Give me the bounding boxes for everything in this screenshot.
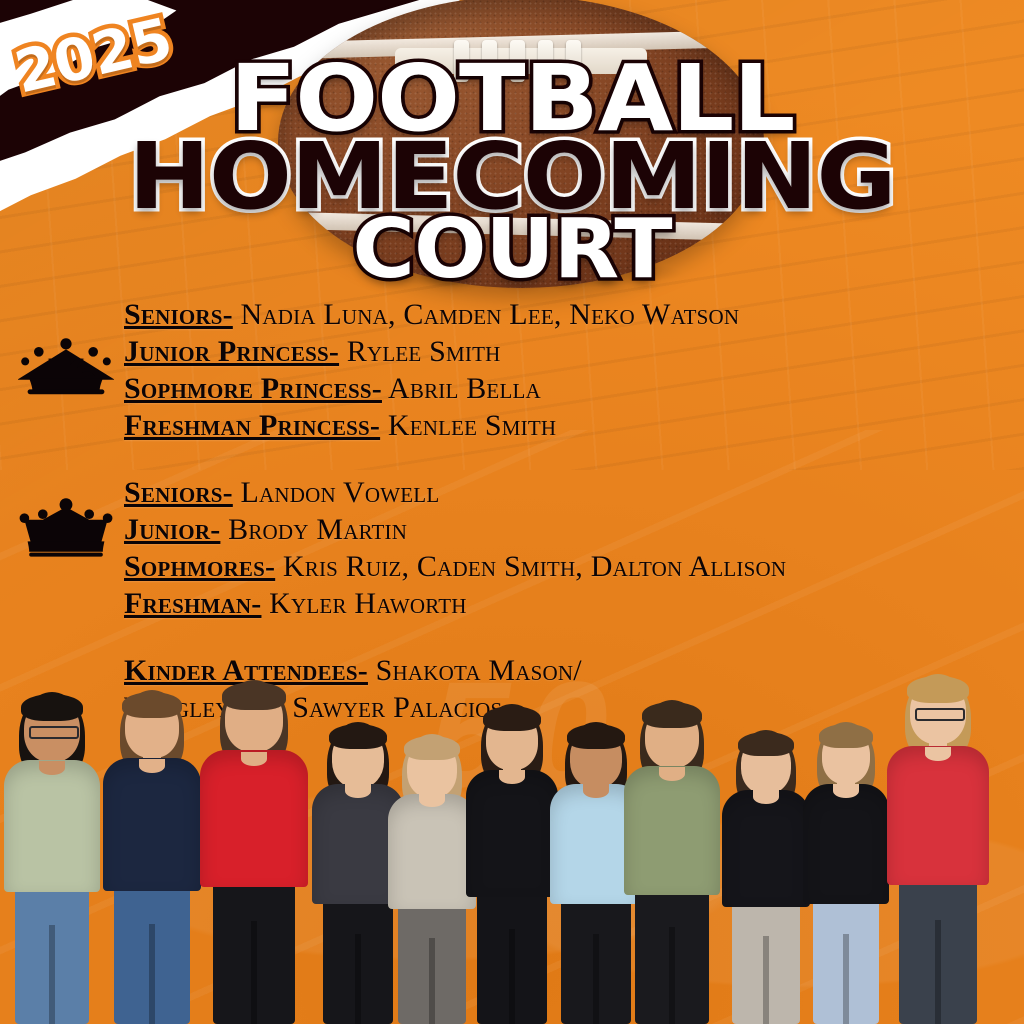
person-figure [617, 702, 727, 1024]
shirt-collar [583, 784, 609, 798]
shirt-collar [833, 784, 859, 798]
leg-gap [763, 936, 769, 1024]
king-court-group: Seniors- Landon Vowell Junior- Brody Mar… [0, 474, 1024, 622]
row-label: Junior Princess- [124, 335, 339, 368]
shirt-collar [499, 770, 525, 784]
leg-gap [593, 934, 599, 1024]
list-item: Junior- Brody Martin [124, 511, 1024, 548]
title-line-court: COURT [0, 217, 1024, 283]
row-names: Kenlee Smith [388, 409, 556, 442]
list-item: Seniors- Landon Vowell [124, 474, 1024, 511]
torso [624, 766, 721, 895]
shirt-collar [753, 790, 779, 804]
row-label: Freshman- [124, 587, 261, 620]
hair-fringe [819, 724, 873, 748]
shirt-collar [39, 761, 65, 775]
list-item: Freshman Princess- Kenlee Smith [124, 407, 1024, 444]
row-label: Seniors- [124, 476, 233, 509]
hair-fringe [404, 736, 460, 760]
hair-fringe [907, 676, 969, 703]
queen-court-group: Seniors- Nadia Luna, Camden Lee, Neko Wa… [0, 296, 1024, 444]
leg-gap [251, 921, 257, 1024]
list-item: Junior Princess- Rylee Smith [124, 333, 1024, 370]
row-label: Sophmores- [124, 550, 275, 583]
hair-fringe [21, 694, 83, 721]
row-names: Landon Vowell [241, 476, 440, 509]
person-figure [880, 676, 996, 1024]
row-names: Abril Bella [388, 372, 541, 405]
row-label: Sophmore Princess- [124, 372, 382, 405]
hair-fringe [329, 724, 387, 749]
shirt-collar [659, 767, 685, 781]
leg-gap [843, 934, 849, 1024]
page-title: FOOTBALL HOMECOMING COURT [0, 62, 1024, 283]
row-label: Seniors- [124, 298, 233, 331]
person-figure [96, 692, 208, 1024]
row-label: Freshman Princess- [124, 409, 380, 442]
group-photo [0, 674, 1024, 1024]
leg-gap [509, 929, 515, 1024]
person-figure [0, 694, 106, 1024]
leg-gap [355, 934, 361, 1024]
homecoming-poster: 50 2025 FOOTBALL HOMECOMING COURT [0, 0, 1024, 1024]
row-names: Kyler Haworth [269, 587, 466, 620]
leg-gap [429, 938, 435, 1024]
torso [887, 746, 989, 885]
leg-gap [149, 924, 155, 1024]
hair-fringe [642, 702, 702, 728]
shirt-collar [345, 784, 371, 798]
leg-gap [935, 920, 941, 1024]
tiara-crown-icon [18, 336, 114, 398]
shirt-collar [419, 793, 445, 807]
row-names: Brody Martin [228, 513, 407, 546]
hair-fringe [483, 706, 541, 731]
torso [103, 758, 202, 891]
list-item: Sophmore Princess- Abril Bella [124, 370, 1024, 407]
hair-fringe [122, 692, 182, 718]
torso [200, 750, 307, 887]
person-figure [193, 682, 315, 1024]
list-item: Freshman- Kyler Haworth [124, 585, 1024, 622]
row-names: Kris Ruiz, Caden Smith, Dalton Allison [283, 550, 786, 583]
glasses-icon [29, 726, 79, 739]
hair-fringe [222, 682, 286, 710]
row-names: Nadia Luna, Camden Lee, Neko Watson [241, 298, 740, 331]
hair-fringe [738, 732, 794, 756]
row-label: Junior- [124, 513, 220, 546]
leg-gap [49, 925, 55, 1024]
torso [803, 784, 889, 904]
king-crown-icon [18, 496, 114, 558]
shirt-collar [241, 752, 267, 766]
list-item: Sophmores- Kris Ruiz, Caden Smith, Dalto… [124, 548, 1024, 585]
glasses-icon [915, 708, 965, 721]
row-names: Rylee Smith [347, 335, 501, 368]
list-item: Seniors- Nadia Luna, Camden Lee, Neko Wa… [124, 296, 1024, 333]
torso [4, 760, 99, 892]
leg-gap [669, 927, 675, 1024]
